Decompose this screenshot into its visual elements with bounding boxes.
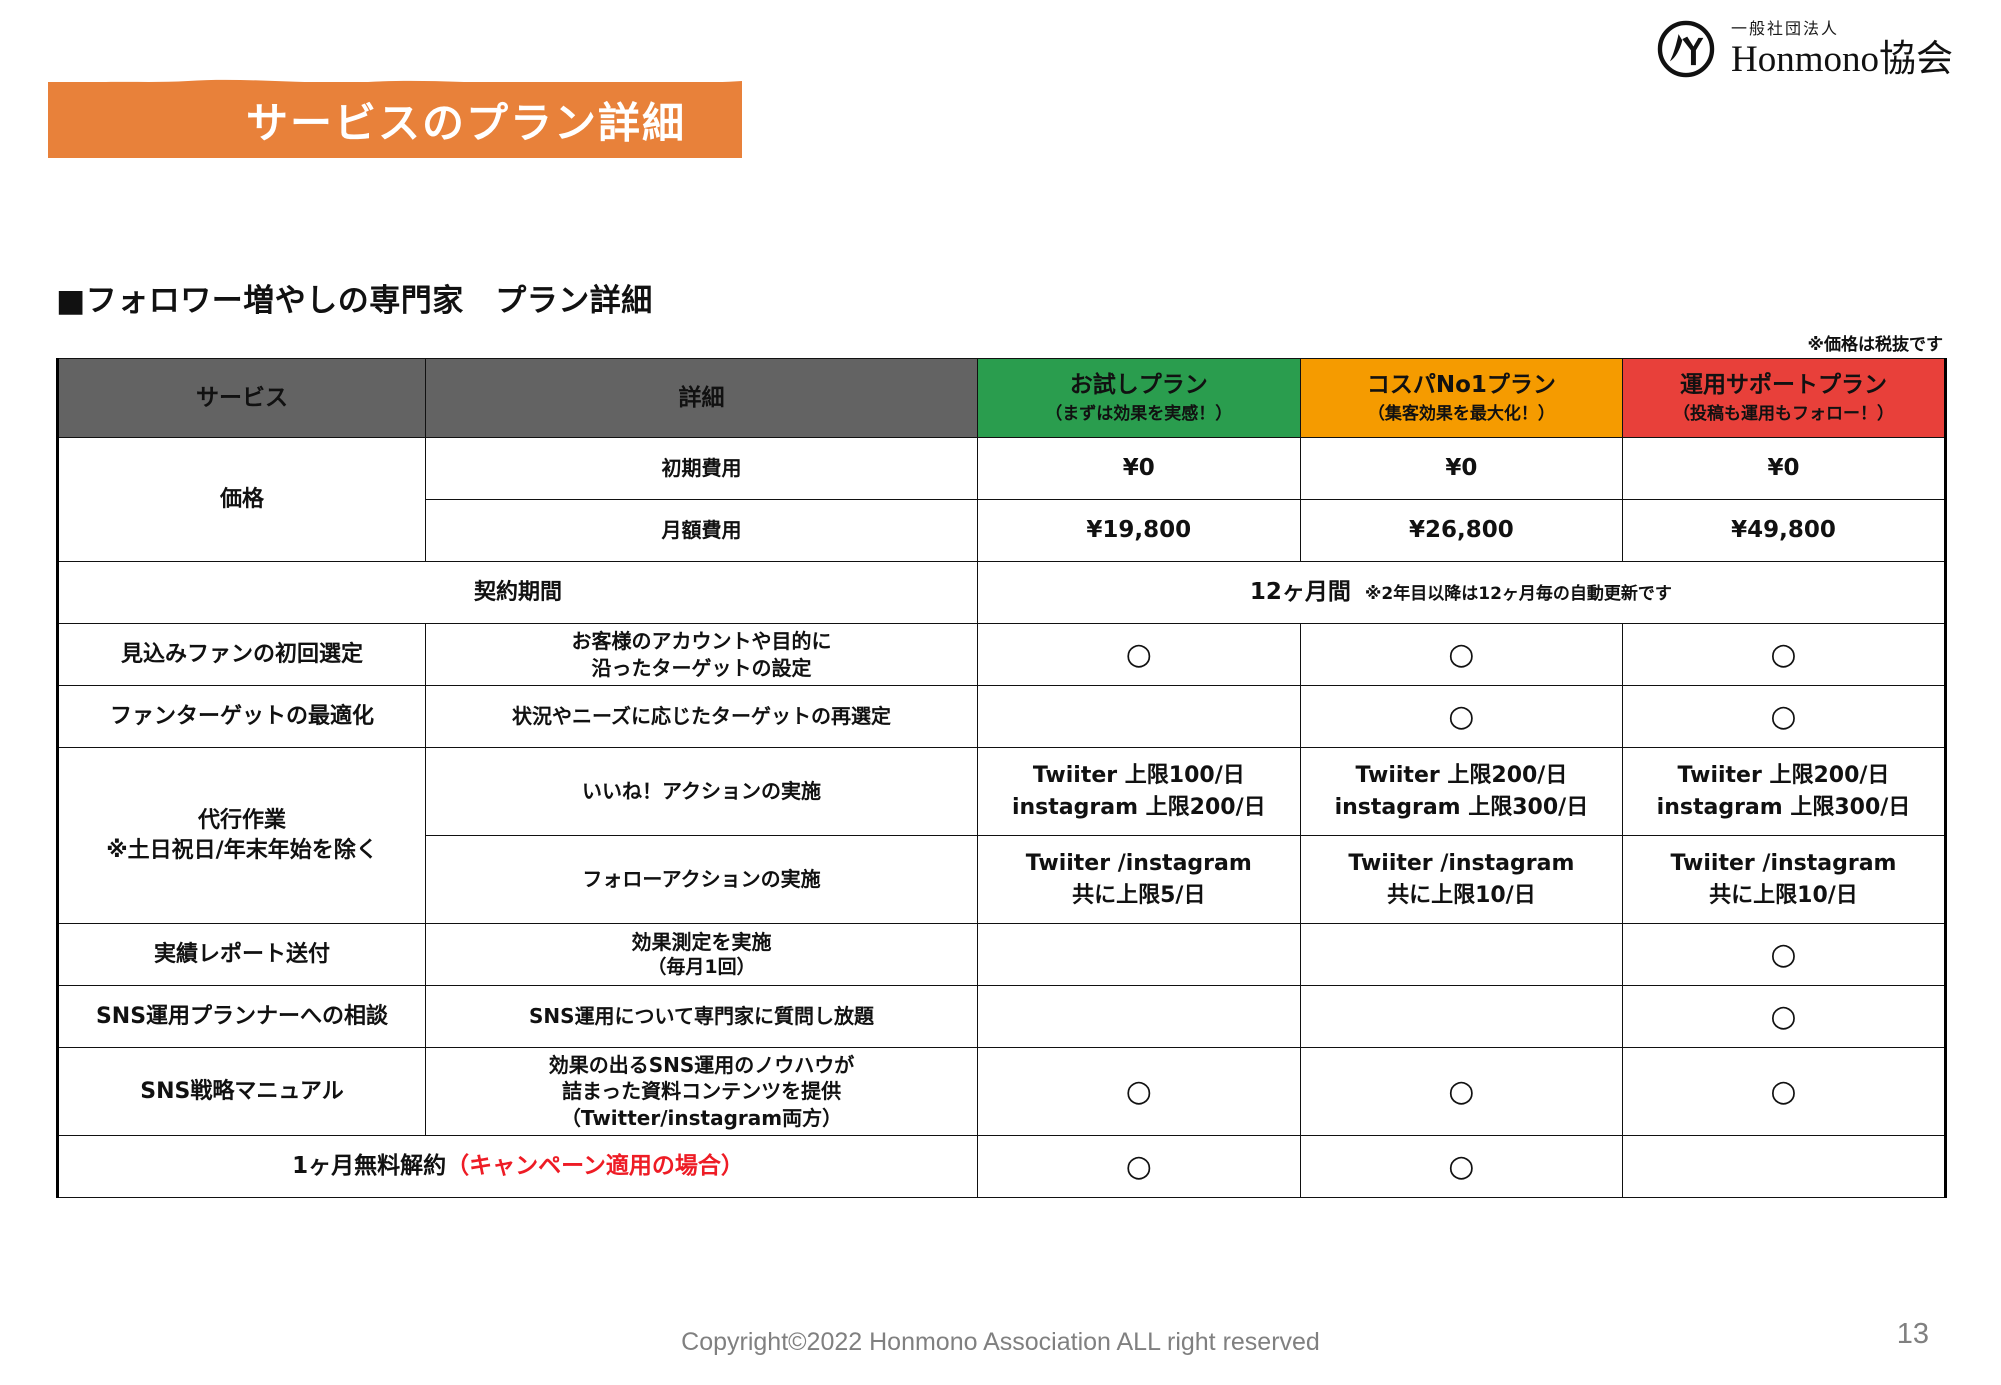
value-like-trial-line2: instagram 上限200/日 <box>982 792 1296 823</box>
detail-optimize-target: 状況やニーズに応じたターゲットの再選定 <box>426 686 978 748</box>
value-like-costperf: Twiiter 上限200/日 instagram 上限300/日 <box>1300 748 1623 836</box>
mark-optimize-trial <box>978 686 1301 748</box>
header-plan-support: 運用サポートプラン （投稿も運用もフォロー！） <box>1623 359 1946 438</box>
plan-sub-trial: （まずは効果を実感！） <box>982 403 1296 425</box>
contract-duration: 12ヶ月間 <box>1250 579 1351 605</box>
plan-comparison-table: サービス 詳細 お試しプラン （まずは効果を実感！） コスパNo1プラン （集客… <box>56 358 1947 1198</box>
detail-monthly-fee: 月額費用 <box>426 500 978 562</box>
value-follow-costperf-line1: Twiiter /instagram <box>1305 848 1619 879</box>
table-row-like-action: 代行作業 ※土日祝日/年末年始を除く いいね！アクションの実施 Twiiter … <box>58 748 1946 836</box>
plan-name-trial: お試しプラン <box>1070 372 1208 398</box>
value-like-trial: Twiiter 上限100/日 instagram 上限200/日 <box>978 748 1301 836</box>
detail-initial-target: お客様のアカウントや目的に 沿ったターゲットの設定 <box>426 624 978 686</box>
free-cancel-label: 1ヶ月無料解約 <box>292 1153 446 1179</box>
footer-copyright: Copyright©2022 Honmono Association ALL r… <box>0 1328 2001 1357</box>
mark-report-trial <box>978 924 1301 986</box>
value-like-costperf-line2: instagram 上限300/日 <box>1305 792 1619 823</box>
row-label-price: 価格 <box>58 438 426 562</box>
value-like-support-line1: Twiiter 上限200/日 <box>1627 760 1940 791</box>
free-cancel-campaign-note: （キャンペーン適用の場合） <box>446 1153 744 1179</box>
value-initial-fee-costperf: ¥0 <box>1300 438 1623 500</box>
mark-report-support: ○ <box>1623 924 1946 986</box>
logo-text-block: 一般社団法人 Honmono協会 <box>1731 21 1953 78</box>
agency-label-line1: 代行作業 <box>63 806 421 835</box>
value-follow-trial: Twiiter /instagram 共に上限5/日 <box>978 836 1301 924</box>
detail-initial-target-line2: 沿ったターゲットの設定 <box>430 655 973 681</box>
header-service: サービス <box>58 359 426 438</box>
mark-free-cancel-trial: ○ <box>978 1136 1301 1198</box>
value-contract-period: 12ヶ月間※2年目以降は12ヶ月毎の自動更新です <box>978 562 1946 624</box>
mark-initial-target-costperf: ○ <box>1300 624 1623 686</box>
hy-monogram-icon <box>1655 18 1717 80</box>
value-follow-support-line2: 共に上限10/日 <box>1627 880 1940 911</box>
mark-optimize-costperf: ○ <box>1300 686 1623 748</box>
table-row-manual: SNS戦略マニュアル 効果の出るSNS運用のノウハウが 詰まった資料コンテンツを… <box>58 1048 1946 1136</box>
logo-name: Honmono協会 <box>1731 41 1953 78</box>
table-row-contract-period: 契約期間 12ヶ月間※2年目以降は12ヶ月毎の自動更新です <box>58 562 1946 624</box>
row-label-consultation: SNS運用プランナーへの相談 <box>58 986 426 1048</box>
mark-consultation-support: ○ <box>1623 986 1946 1048</box>
plan-name-support: 運用サポートプラン <box>1680 372 1887 398</box>
page-number: 13 <box>1897 1318 1929 1351</box>
value-initial-fee-trial: ¥0 <box>978 438 1301 500</box>
detail-consultation: SNS運用について専門家に質問し放題 <box>426 986 978 1048</box>
detail-report-line2: （毎月1回） <box>430 955 973 980</box>
value-follow-support: Twiiter /instagram 共に上限10/日 <box>1623 836 1946 924</box>
mark-initial-target-trial: ○ <box>978 624 1301 686</box>
logo-kana: 一般社団法人 <box>1731 21 1953 37</box>
table-row-initial-fee: 価格 初期費用 ¥0 ¥0 ¥0 <box>58 438 1946 500</box>
row-label-initial-target: 見込みファンの初回選定 <box>58 624 426 686</box>
value-like-trial-line1: Twiiter 上限100/日 <box>982 760 1296 791</box>
header-plan-trial: お試しプラン （まずは効果を実感！） <box>978 359 1301 438</box>
detail-initial-fee: 初期費用 <box>426 438 978 500</box>
mark-consultation-costperf <box>1300 986 1623 1048</box>
row-label-report: 実績レポート送付 <box>58 924 426 986</box>
table-row-initial-target: 見込みファンの初回選定 お客様のアカウントや目的に 沿ったターゲットの設定 ○ … <box>58 624 1946 686</box>
table-row-report: 実績レポート送付 効果測定を実施 （毎月1回） ○ <box>58 924 1946 986</box>
value-initial-fee-support: ¥0 <box>1623 438 1946 500</box>
row-label-contract: 契約期間 <box>58 562 978 624</box>
table-row-optimize-target: ファンターゲットの最適化 状況やニーズに応じたターゲットの再選定 ○ ○ <box>58 686 1946 748</box>
value-follow-trial-line2: 共に上限5/日 <box>982 880 1296 911</box>
mark-manual-trial: ○ <box>978 1048 1301 1136</box>
mark-consultation-trial <box>978 986 1301 1048</box>
value-follow-costperf-line2: 共に上限10/日 <box>1305 880 1619 911</box>
mark-free-cancel-costperf: ○ <box>1300 1136 1623 1198</box>
title-banner: サービスのプラン詳細 <box>48 82 742 158</box>
mark-initial-target-support: ○ <box>1623 624 1946 686</box>
table-row-free-cancel: 1ヶ月無料解約（キャンペーン適用の場合） ○ ○ <box>58 1136 1946 1198</box>
section-heading: ■フォロワー増やしの専門家 プラン詳細 <box>56 275 653 320</box>
value-monthly-fee-trial: ¥19,800 <box>978 500 1301 562</box>
plan-name-costperf: コスパNo1プラン <box>1367 372 1556 398</box>
value-like-support: Twiiter 上限200/日 instagram 上限300/日 <box>1623 748 1946 836</box>
detail-follow-action: フォローアクションの実施 <box>426 836 978 924</box>
detail-manual: 効果の出るSNS運用のノウハウが 詰まった資料コンテンツを提供 （Twitter… <box>426 1048 978 1136</box>
value-like-costperf-line1: Twiiter 上限200/日 <box>1305 760 1619 791</box>
detail-report-line1: 効果測定を実施 <box>430 929 973 955</box>
plan-sub-support: （投稿も運用もフォロー！） <box>1627 403 1940 425</box>
row-label-manual: SNS戦略マニュアル <box>58 1048 426 1136</box>
agency-label-line2: ※土日祝日/年末年始を除く <box>63 836 421 865</box>
table-header-row: サービス 詳細 お試しプラン （まずは効果を実感！） コスパNo1プラン （集客… <box>58 359 1946 438</box>
detail-manual-line3: （Twitter/instagram両方） <box>430 1105 973 1131</box>
tax-note: ※価格は税抜です <box>1807 330 1943 355</box>
detail-initial-target-line1: お客様のアカウントや目的に <box>430 628 973 654</box>
page-title: サービスのプラン詳細 <box>246 90 686 151</box>
mark-manual-support: ○ <box>1623 1048 1946 1136</box>
mark-free-cancel-support <box>1623 1136 1946 1198</box>
value-follow-trial-line1: Twiiter /instagram <box>982 848 1296 879</box>
row-label-agency-work: 代行作業 ※土日祝日/年末年始を除く <box>58 748 426 924</box>
contract-renewal-note: ※2年目以降は12ヶ月毎の自動更新です <box>1365 584 1672 604</box>
table-row-consultation: SNS運用プランナーへの相談 SNS運用について専門家に質問し放題 ○ <box>58 986 1946 1048</box>
row-label-free-cancel: 1ヶ月無料解約（キャンペーン適用の場合） <box>58 1136 978 1198</box>
detail-report: 効果測定を実施 （毎月1回） <box>426 924 978 986</box>
brush-edge-decoration <box>48 75 742 89</box>
detail-manual-line1: 効果の出るSNS運用のノウハウが <box>430 1052 973 1078</box>
value-follow-costperf: Twiiter /instagram 共に上限10/日 <box>1300 836 1623 924</box>
detail-manual-line2: 詰まった資料コンテンツを提供 <box>430 1078 973 1104</box>
detail-like-action: いいね！アクションの実施 <box>426 748 978 836</box>
plan-sub-costperf: （集客効果を最大化！） <box>1305 403 1619 425</box>
mark-report-costperf <box>1300 924 1623 986</box>
header-detail: 詳細 <box>426 359 978 438</box>
brand-logo: 一般社団法人 Honmono協会 <box>1655 18 1953 80</box>
mark-optimize-support: ○ <box>1623 686 1946 748</box>
value-like-support-line2: instagram 上限300/日 <box>1627 792 1940 823</box>
row-label-optimize-target: ファンターゲットの最適化 <box>58 686 426 748</box>
value-monthly-fee-costperf: ¥26,800 <box>1300 500 1623 562</box>
header-plan-costperf: コスパNo1プラン （集客効果を最大化！） <box>1300 359 1623 438</box>
value-monthly-fee-support: ¥49,800 <box>1623 500 1946 562</box>
value-follow-support-line1: Twiiter /instagram <box>1627 848 1940 879</box>
mark-manual-costperf: ○ <box>1300 1048 1623 1136</box>
